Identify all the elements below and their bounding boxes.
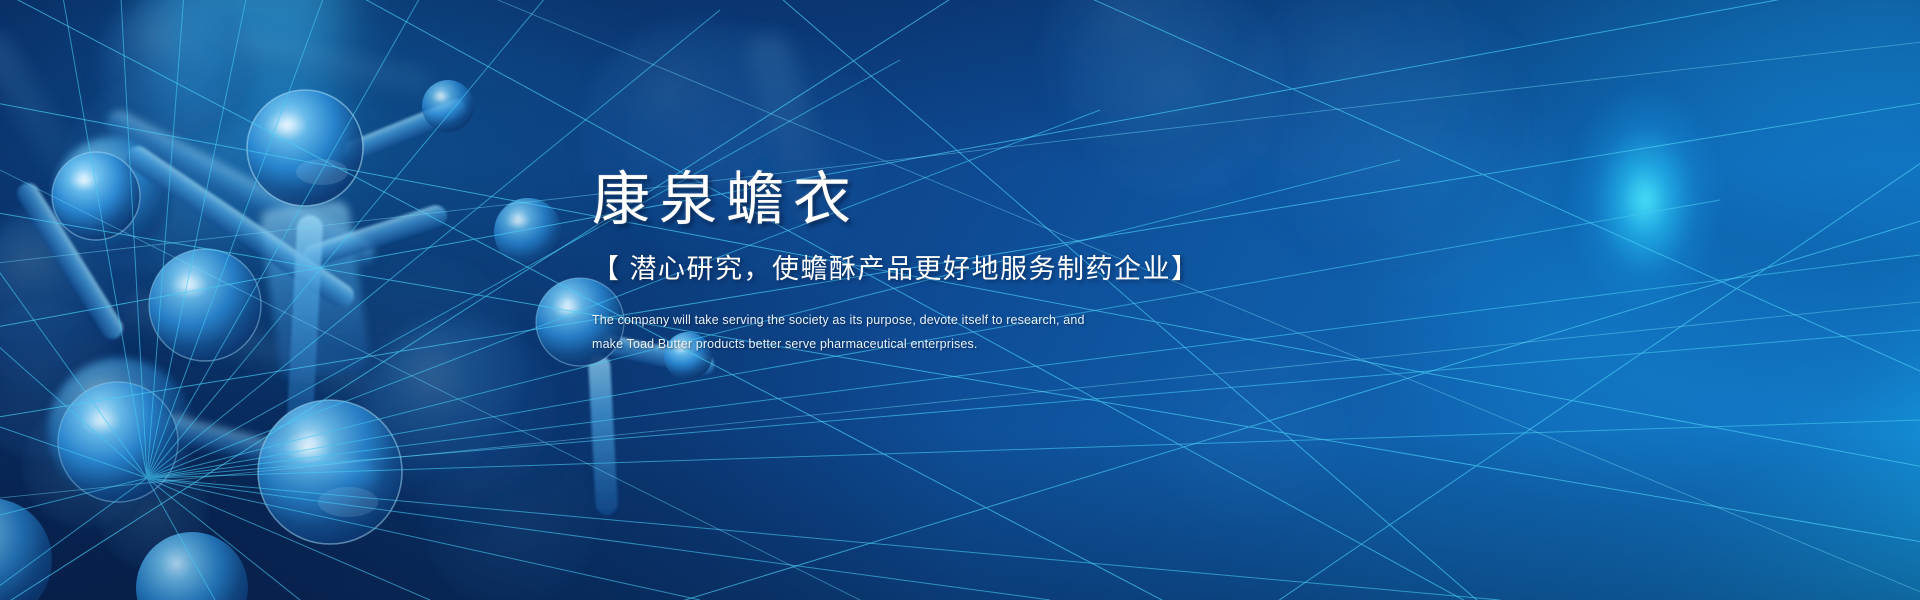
page-title: 康泉蟾衣 [592, 168, 1292, 232]
page-description: The company will take serving the societ… [592, 308, 1292, 356]
page-subtitle: 【 潜心研究，使蟾酥产品更好地服务制药企业】 [592, 252, 1292, 286]
hero-text-block: 康泉蟾衣 【 潜心研究，使蟾酥产品更好地服务制药企业】 The company … [592, 168, 1292, 356]
description-line-2: make Toad Butter products better serve p… [592, 332, 1292, 356]
hero-banner: 康泉蟾衣 【 潜心研究，使蟾酥产品更好地服务制药企业】 The company … [0, 0, 1920, 600]
description-line-1: The company will take serving the societ… [592, 308, 1292, 332]
